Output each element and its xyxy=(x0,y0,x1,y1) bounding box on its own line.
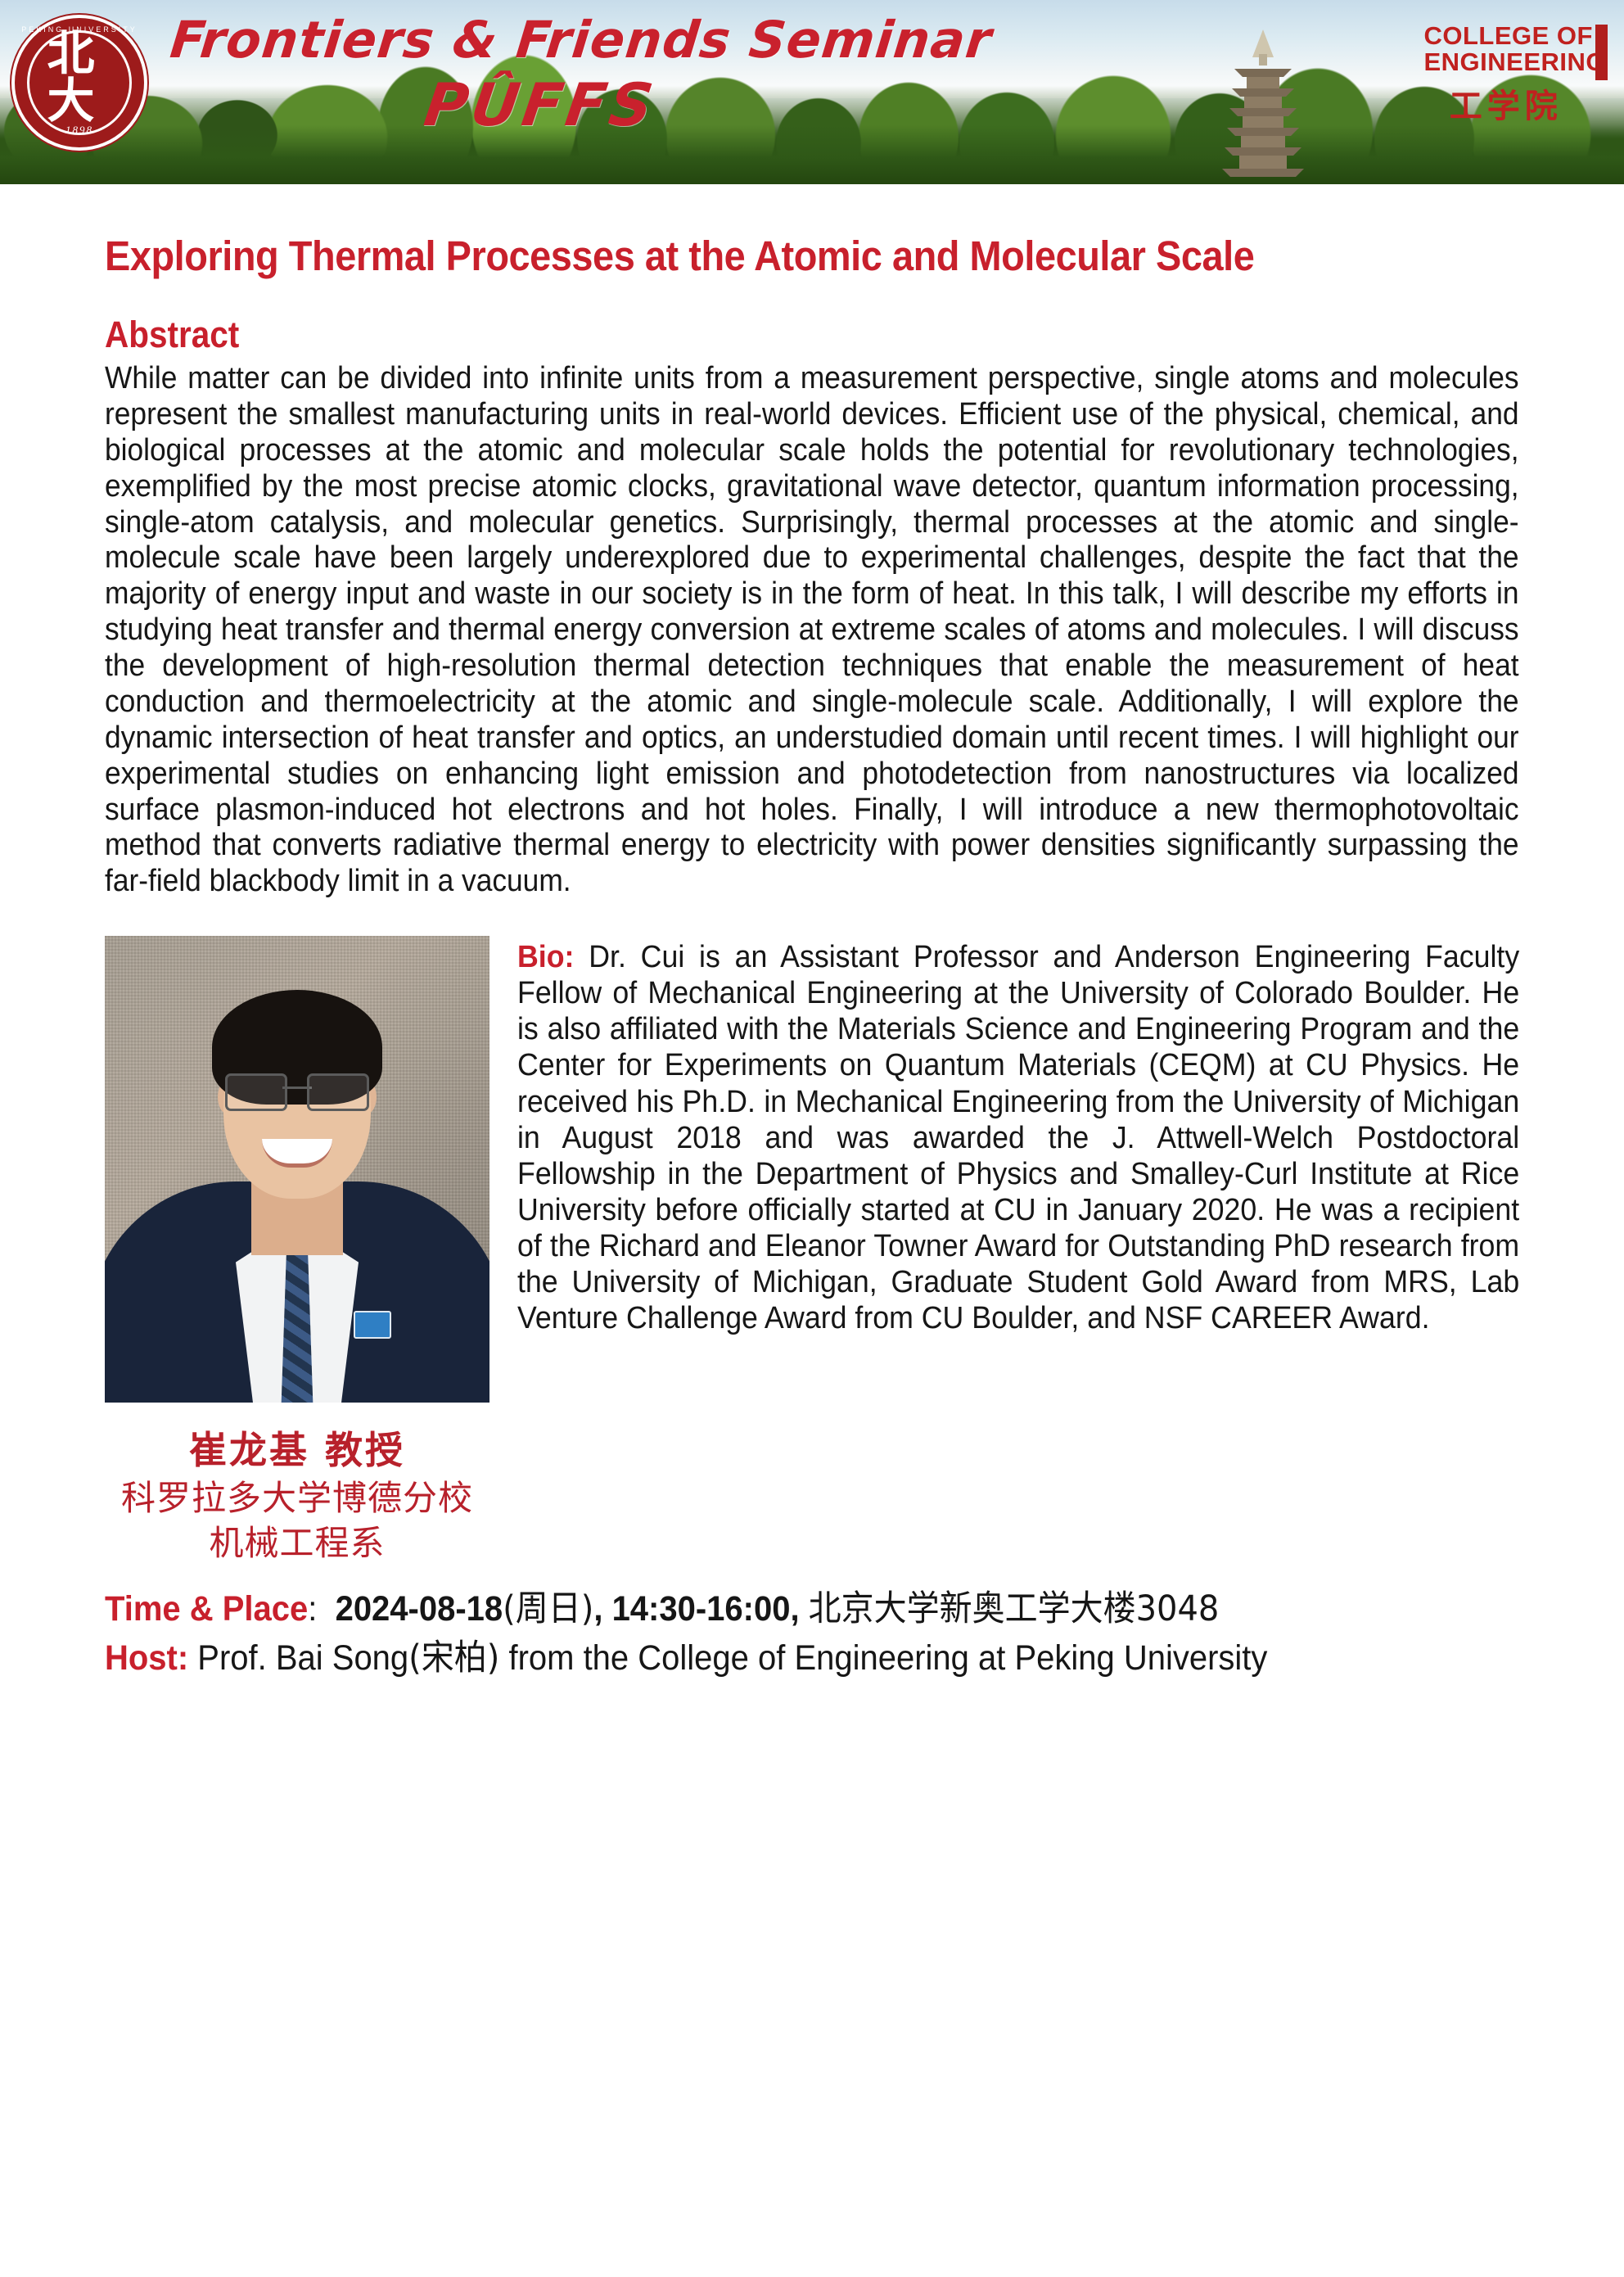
speaker-block: 崔龙基 教授 科罗拉多大学博德分校 机械工程系 Bio: Dr. Cui is … xyxy=(105,936,1519,1564)
speaker-bio-paragraph: Bio: Dr. Cui is an Assistant Professor a… xyxy=(517,936,1519,1336)
abstract-text: While matter can be divided into infinit… xyxy=(105,361,1519,900)
coe-line1: COLLEGE OF xyxy=(1423,23,1606,49)
speaker-name-chinese: 崔龙基 教授 xyxy=(105,1421,489,1475)
comma-after-time: , xyxy=(790,1589,799,1629)
speaker-affiliation-line1: 科罗拉多大学博德分校 xyxy=(105,1478,489,1519)
host-line: Host: Prof. Bai Song(宋柏) from the Colleg… xyxy=(105,1636,1420,1682)
poster-banner: PEKING UNIVERSITY 北大 1898 Frontiers & Fr… xyxy=(0,0,1624,184)
boya-pagoda-icon xyxy=(1202,29,1324,181)
host-label: Host: xyxy=(105,1638,188,1678)
host-name-chinese: (宋柏) xyxy=(408,1638,499,1678)
speaker-bio-column: Bio: Dr. Cui is an Assistant Professor a… xyxy=(517,936,1519,1336)
speaker-photo-column: 崔龙基 教授 科罗拉多大学博德分校 机械工程系 xyxy=(105,936,489,1564)
speaker-affiliation-line2: 机械工程系 xyxy=(105,1523,489,1564)
seminar-series-acronym: PÛFFS xyxy=(0,75,1085,134)
comma-after-date: , xyxy=(593,1589,602,1629)
time-and-place-line: Time & Place: 2024-08-18(周日), 14:30-16:0… xyxy=(105,1587,1420,1633)
portrait-glasses xyxy=(225,1073,369,1109)
host-affiliation: from the College of Engineering at Pekin… xyxy=(508,1638,1267,1678)
host-name-english: Prof. Bai Song xyxy=(197,1638,408,1678)
coe-red-bar xyxy=(1595,25,1608,80)
bio-label: Bio: xyxy=(517,940,574,974)
portrait-lapel-pin xyxy=(354,1311,391,1339)
glasses-lens-left xyxy=(225,1073,287,1111)
poster-body: Exploring Thermal Processes at the Atomi… xyxy=(0,184,1624,1685)
seminar-series-title: Frontiers & Friends Seminar xyxy=(0,15,1165,66)
bio-body-text: Dr. Cui is an Assistant Professor and An… xyxy=(517,940,1519,1335)
speaker-portrait-photo xyxy=(105,936,489,1403)
seminar-venue: 北京大学新奥工学大楼3048 xyxy=(809,1588,1220,1629)
glasses-lens-right xyxy=(307,1073,369,1111)
coe-line2: ENGINEERING xyxy=(1423,49,1606,75)
logistics-footer: Time & Place: 2024-08-18(周日), 14:30-16:0… xyxy=(105,1587,1519,1682)
seminar-date: 2024-08-18 xyxy=(336,1589,503,1629)
time-place-separator: : xyxy=(308,1589,317,1629)
coe-chinese-name: 工学院 xyxy=(1423,79,1606,127)
abstract-heading: Abstract xyxy=(105,314,1378,356)
talk-title: Exploring Thermal Processes at the Atomi… xyxy=(105,184,1406,279)
college-of-engineering-logo: COLLEGE OF ENGINEERING 工学院 xyxy=(1423,23,1606,127)
time-place-label: Time & Place xyxy=(105,1589,308,1629)
seminar-time: 14:30-16:00 xyxy=(612,1589,791,1629)
seminar-weekday: (周日) xyxy=(503,1588,593,1629)
